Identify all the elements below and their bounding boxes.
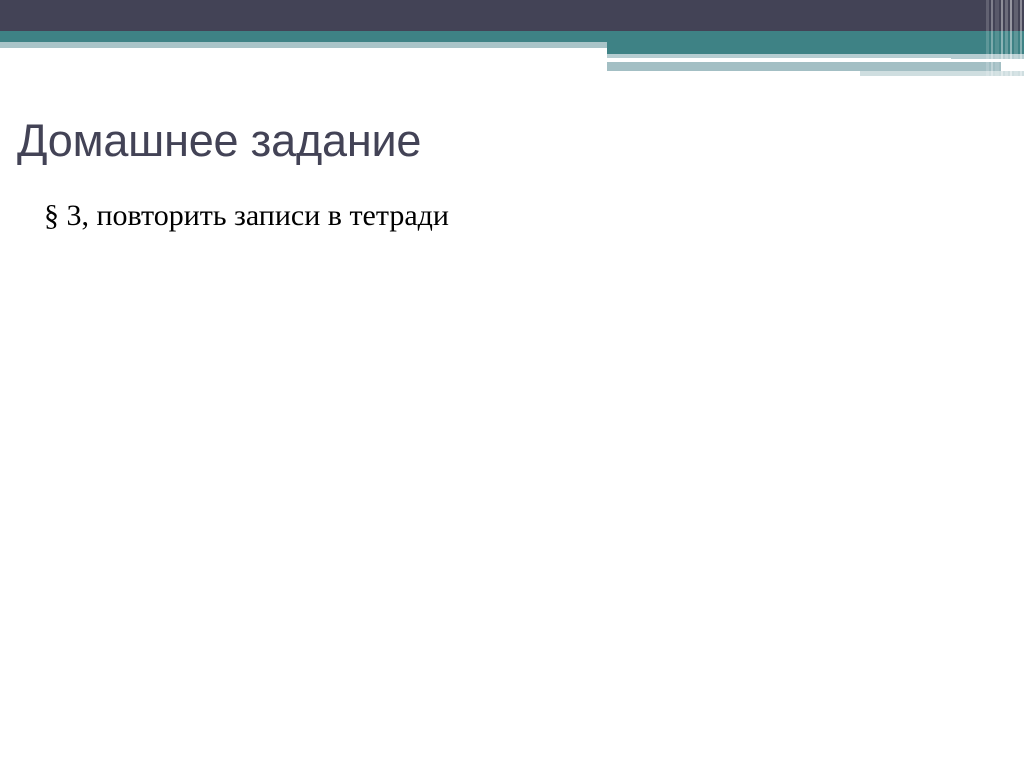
body-text-line: § 3, повторить записи в тетради [44,197,984,235]
slide-content-area [0,250,1024,767]
banner-band-teal [0,31,1024,42]
banner-band-pale-left [0,42,607,48]
banner-band-dark [0,0,1024,31]
slide-body: § 3, повторить записи в тетради [44,197,984,235]
banner-band-teal-step [607,42,1024,54]
slide: Домашнее задание § 3, повторить записи в… [0,0,1024,767]
slide-title: Домашнее задание [17,117,977,166]
banner-band-pale-lower [607,62,1001,71]
header-banner [0,0,1024,76]
banner-band-pale-tail [860,71,1024,76]
